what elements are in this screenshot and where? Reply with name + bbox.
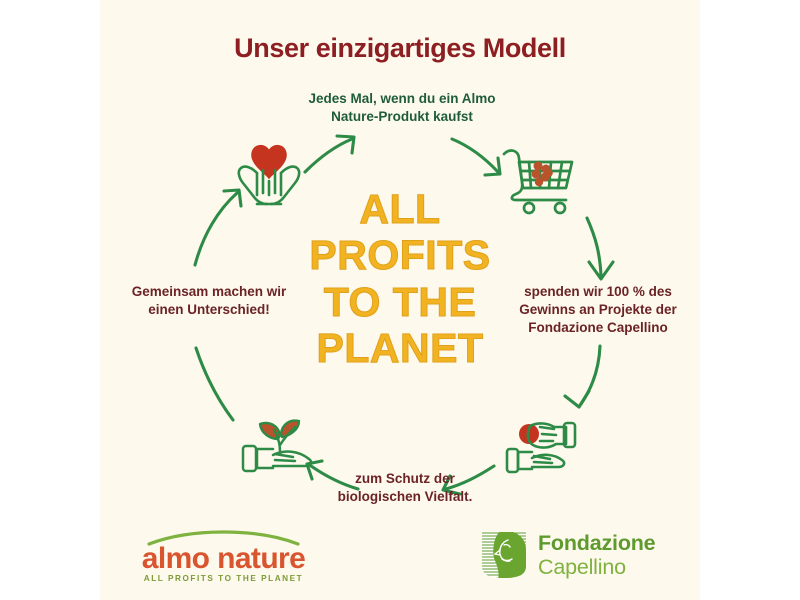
fondazione-line-1: Fondazione xyxy=(538,531,680,555)
fondazione-capellino-logo: Fondazione Capellino xyxy=(480,528,680,584)
infographic-canvas: Unser einzigartiges Modell xyxy=(0,0,800,600)
profile-face-mark-icon xyxy=(480,530,528,580)
content-panel: Unser einzigartiges Modell xyxy=(100,0,700,600)
center-headline: ALL PROFITS TO THE PLANET xyxy=(268,186,532,371)
hands-heart-icon xyxy=(227,137,311,211)
page-title: Unser einzigartiges Modell xyxy=(100,33,700,64)
headline-line-3: TO THE xyxy=(268,279,532,325)
shopping-cart-icon xyxy=(496,140,580,218)
cycle-step-label-together: Gemeinsam machen wir einen Unterschied! xyxy=(118,283,300,319)
almo-nature-logo: almo nature ALL PROFITS TO THE PLANET xyxy=(131,530,316,586)
headline-line-4: PLANET xyxy=(268,325,532,371)
headline-line-2: PROFITS xyxy=(268,232,532,278)
cycle-step-label-donate: spenden wir 100 % des Gewinns an Projekt… xyxy=(498,283,698,338)
cycle-step-label-purchase: Jedes Mal, wenn du ein Almo Nature-Produ… xyxy=(288,90,516,126)
fondazione-line-2: Capellino xyxy=(538,555,680,579)
hand-seedling-icon xyxy=(233,403,325,483)
almo-nature-wordmark: almo nature xyxy=(131,542,316,576)
cycle-step-label-biodiversity: zum Schutz der biologischen Vielfalt. xyxy=(315,470,495,506)
giving-hands-icon xyxy=(496,404,588,480)
almo-nature-tagline: ALL PROFITS TO THE PLANET xyxy=(131,574,316,583)
